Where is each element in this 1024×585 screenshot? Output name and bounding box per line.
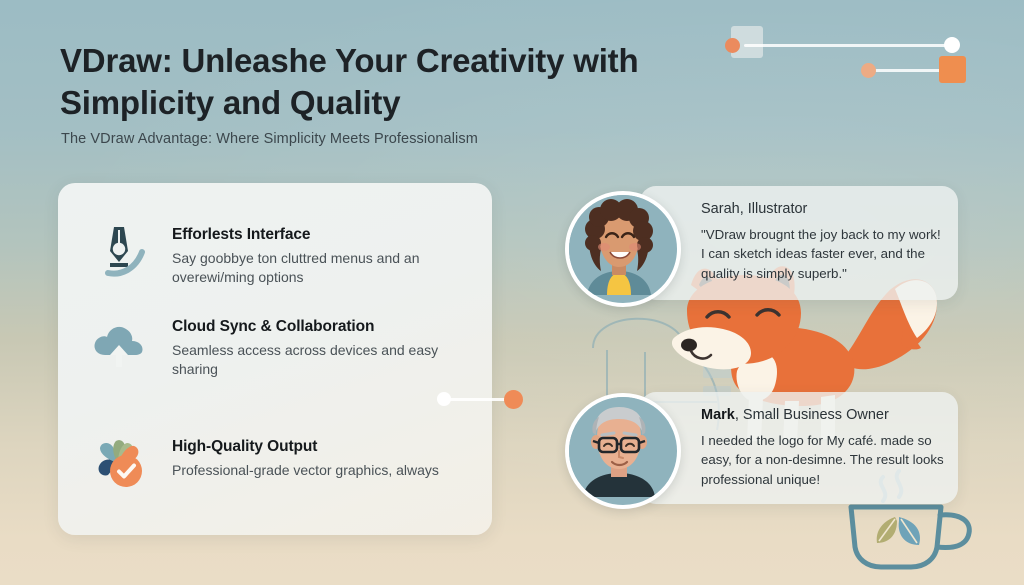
connector-line-top [744, 44, 952, 47]
feature-item-effortless-interface: Efforlests Interface Say goobbye ton clu… [88, 221, 468, 288]
feature-text: Efforlests Interface Say goobbye ton clu… [172, 221, 468, 288]
features-card: Efforlests Interface Say goobbye ton clu… [58, 183, 492, 535]
orange-dot-decoration-2 [861, 63, 876, 78]
feature-description: Professional-grade vector graphics, alwa… [172, 461, 439, 480]
feature-item-high-quality-output: High-Quality Output Professional-grade v… [88, 433, 468, 495]
feature-text: Cloud Sync & Collaboration Seamless acce… [172, 313, 468, 380]
feature-title: Efforlests Interface [172, 226, 468, 244]
feature-title: Cloud Sync & Collaboration [172, 318, 468, 336]
page-title-line-1: VDraw: Unleashe Your Creativity with [60, 40, 720, 82]
feature-text: High-Quality Output Professional-grade v… [172, 433, 439, 480]
testimonial-card-sarah: Sarah, Illustrator "VDraw brougnt the jo… [640, 186, 958, 300]
testimonial-content: Mark, Small Business Owner I needed the … [701, 407, 946, 489]
pen-nib-icon [88, 221, 150, 283]
testimonial-quote: "VDraw brougnt the joy back to my work! … [701, 225, 946, 283]
testimonial-name: Sarah [701, 201, 740, 217]
feature-title: High-Quality Output [172, 438, 439, 456]
testimonial-role: , Small Business Owner [735, 407, 889, 423]
feature-description: Say goobbye ton cluttred menus and an ov… [172, 249, 468, 288]
testimonial-content: Sarah, Illustrator "VDraw brougnt the jo… [701, 201, 946, 283]
testimonial-name: Mark [701, 407, 735, 423]
orange-dot-decoration-1 [725, 38, 740, 53]
avatar-sarah [565, 191, 681, 307]
page-title-line-2: Simplicity and Quality [60, 82, 720, 124]
avatar-mark [565, 393, 681, 509]
feature-item-cloud-sync: Cloud Sync & Collaboration Seamless acce… [88, 313, 468, 380]
testimonial-role: , Illustrator [740, 201, 808, 217]
page-title: VDraw: Unleashe Your Creativity with Sim… [60, 40, 720, 124]
connector-line-middle [444, 398, 512, 401]
feature-description: Seamless access across devices and easy … [172, 341, 468, 380]
orange-square-decoration [939, 56, 966, 83]
testimonial-quote: I needed the logo for My café. made so e… [701, 431, 946, 489]
testimonial-card-mark: Mark, Small Business Owner I needed the … [640, 392, 958, 504]
orange-dot-decoration-3 [504, 390, 523, 409]
quality-check-icon [88, 433, 150, 495]
cloud-upload-icon [88, 313, 150, 375]
testimonial-name-role: Sarah, Illustrator [701, 201, 946, 217]
white-dot-decoration [944, 37, 960, 53]
testimonial-name-role: Mark, Small Business Owner [701, 407, 946, 423]
poster-canvas: VDraw: Unleashe Your Creativity with Sim… [0, 0, 1024, 585]
page-subtitle: The VDraw Advantage: Where Simplicity Me… [61, 131, 478, 147]
white-dot-decoration-2 [437, 392, 451, 406]
